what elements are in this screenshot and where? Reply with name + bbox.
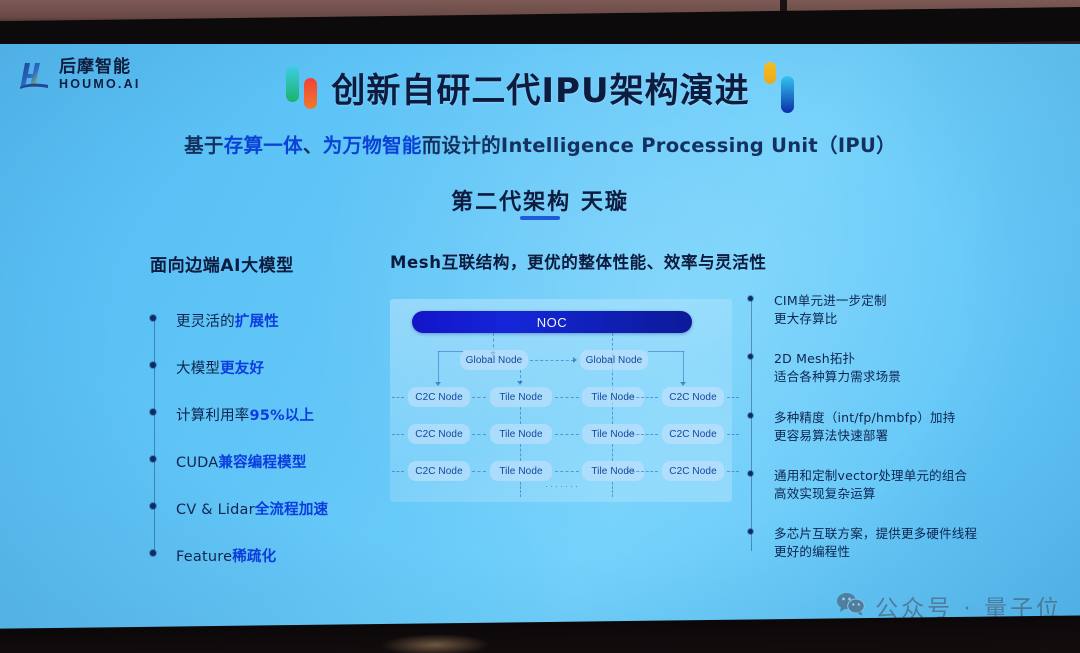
left-feature-list: 更灵活的扩展性 大模型更友好 计算利用率95%以上 CUDA兼容编程模型 CV … [150, 310, 380, 566]
list-item: 多种精度（int/fp/hmbfp）加持更容易算法快速部署 [774, 409, 968, 445]
bezel-reflection [380, 633, 490, 653]
list-item-highlight: 95%以上 [250, 408, 315, 424]
connector-tile-v-tail-right [612, 482, 613, 497]
connector-tile-v-r2-r3-right [612, 444, 613, 461]
noc-bus: NOC [412, 311, 692, 333]
left-column-heading: 面向边端AI大模型 [150, 251, 380, 276]
connector-edge-r1-left [392, 397, 404, 398]
subtitle-highlight-2: 为万物智能 [323, 134, 422, 157]
pill-red-orange-icon [304, 78, 317, 109]
list-item-highlight: 更友好 [220, 361, 264, 377]
right-column: CIM单元进一步定制更大存算比 2D Mesh拓扑适合各种算力需求场景 多种精度… [748, 292, 968, 583]
page-title: 创新自研二代IPU架构演进 [331, 63, 749, 112]
connector-tile-tile-r1 [555, 397, 579, 398]
node-c2c-r2-right: C2C Node [662, 424, 724, 444]
list-item: CUDA兼容编程模型 [176, 451, 380, 472]
list-item: 大模型更友好 [176, 357, 380, 378]
list-item-plain: 计算利用率 [176, 408, 250, 424]
decor-pills-left [286, 66, 317, 109]
connector-tile-v-r2-r3-left [520, 444, 521, 461]
list-item: CIM单元进一步定制更大存算比 [774, 292, 968, 328]
connector-elbow-left-v [438, 351, 439, 383]
list-item-line1: 多种精度（int/fp/hmbfp）加持 [774, 410, 955, 425]
connector-c2c-tile-r3-left [472, 471, 486, 472]
middle-column-heading: Mesh互联结构，更优的整体性能、效率与灵活性 [390, 249, 750, 273]
pill-cyan-darkblue-icon [781, 76, 794, 113]
left-column: 面向边端AI大模型 更灵活的扩展性 大模型更友好 计算利用率95%以上 CUDA… [150, 251, 380, 592]
connector-edge-r3-right [727, 471, 739, 472]
connector-tile-c2c-r3-right [627, 471, 658, 472]
arrow-down-icon [680, 382, 686, 386]
connector-tile-v-tail-left [520, 482, 521, 497]
subtitle-part-2: 、 [303, 134, 323, 157]
continuation-dots: ······· [545, 481, 580, 491]
list-item-plain: Feature [176, 549, 232, 565]
wechat-icon [836, 592, 866, 621]
pill-cyan-green-icon [286, 66, 299, 102]
connector-global-to-global [530, 360, 574, 361]
list-item-plain: 大模型 [176, 361, 220, 377]
list-item-highlight: 兼容编程模型 [218, 455, 306, 471]
connector-c2c-tile-r2-left [472, 434, 486, 435]
list-item-line1: CIM单元进一步定制 [774, 293, 887, 308]
list-item-line1: 多芯片互联方案，提供更多硬件线程 [774, 526, 977, 541]
connector-edge-r1-right [727, 397, 739, 398]
node-c2c-r2-left: C2C Node [408, 424, 470, 444]
list-item-plain: CUDA [176, 455, 218, 471]
list-item-line2: 更好的编程性 [774, 544, 850, 559]
list-item: 通用和定制vector处理单元的组合高效实现复杂运算 [774, 467, 968, 503]
node-tile-r3-left: Tile Node [490, 461, 552, 481]
node-c2c-r3-right: C2C Node [662, 461, 724, 481]
node-tile-r1-left: Tile Node [490, 387, 552, 407]
list-item-line2: 高效实现复杂运算 [774, 486, 876, 501]
list-item: 2D Mesh拓扑适合各种算力需求场景 [774, 350, 968, 386]
node-c2c-r1-right: C2C Node [662, 387, 724, 407]
arrow-down-icon [517, 381, 523, 385]
arrow-right-icon [573, 357, 577, 363]
connector-tile-c2c-r2-right [627, 434, 658, 435]
connector-elbow-right-h [648, 351, 684, 352]
list-item: CV & Lidar全流程加速 [176, 498, 380, 519]
list-item-highlight: 稀疏化 [232, 549, 276, 565]
node-c2c-r3-left: C2C Node [408, 461, 470, 481]
presentation-slide: 后摩智能 HOUMO.AI 创新自研二代IPU架构演进 基于存算一体、为万物智能… [0, 44, 1080, 630]
page-subtitle: 基于存算一体、为万物智能而设计的Intelligence Processing … [0, 129, 1080, 158]
list-item: 计算利用率95%以上 [176, 404, 380, 425]
list-item-plain: 更灵活的 [176, 314, 235, 330]
connector-tile-v-r1-r2-right [612, 407, 613, 424]
node-tile-r2-left: Tile Node [490, 424, 552, 444]
connector-elbow-left-h [438, 351, 463, 352]
section-title: 第二代架构 天璇 [0, 184, 1080, 216]
list-item-line2: 更容易算法快速部署 [774, 428, 888, 443]
list-item-highlight: 扩展性 [235, 314, 279, 330]
connector-tile-tile-r2 [555, 434, 579, 435]
subtitle-part-3: 而设计的Intelligence Processing Unit（IPU） [422, 134, 896, 157]
connector-tile-c2c-r1-right [627, 397, 658, 398]
connector-edge-r3-left [392, 471, 404, 472]
pill-yellow-icon [764, 62, 776, 84]
subtitle-part-1: 基于 [184, 134, 224, 157]
node-global-1: Global Node [460, 350, 528, 370]
list-item-plain: CV & Lidar [176, 502, 255, 518]
list-item-line1: 2D Mesh拓扑 [774, 351, 855, 366]
connector-edge-r2-left [392, 434, 404, 435]
decor-pills-right [764, 62, 794, 113]
list-item-highlight: 全流程加速 [255, 502, 329, 518]
node-c2c-r1-left: C2C Node [408, 387, 470, 407]
connector-tile-v-r1-r2-left [520, 407, 521, 424]
mesh-topology-diagram: NOC Global Node Global Node [390, 299, 732, 502]
list-item: 更灵活的扩展性 [176, 310, 380, 331]
list-item: 多芯片互联方案，提供更多硬件线程更好的编程性 [774, 525, 968, 561]
title-row: 创新自研二代IPU架构演进 [0, 62, 1080, 113]
section-title-underline [520, 216, 560, 220]
arrow-down-icon [435, 382, 441, 386]
list-item-line1: 通用和定制vector处理单元的组合 [774, 468, 967, 483]
photo-of-projected-slide: 后摩智能 HOUMO.AI 创新自研二代IPU架构演进 基于存算一体、为万物智能… [0, 0, 1080, 653]
list-item-line2: 适合各种算力需求场景 [774, 369, 901, 384]
right-feature-list: CIM单元进一步定制更大存算比 2D Mesh拓扑适合各种算力需求场景 多种精度… [748, 292, 968, 561]
subtitle-highlight-1: 存算一体 [224, 134, 303, 157]
node-global-2: Global Node [580, 350, 648, 370]
connector-tile-tile-r3 [555, 471, 579, 472]
connector-edge-r2-right [727, 434, 739, 435]
connector-c2c-tile-r1-left [472, 397, 486, 398]
list-item: Feature稀疏化 [176, 545, 380, 566]
list-item-line2: 更大存算比 [774, 311, 838, 326]
connector-elbow-right-v [683, 351, 684, 383]
middle-column: Mesh互联结构，更优的整体性能、效率与灵活性 NOC Global Node … [390, 249, 750, 502]
